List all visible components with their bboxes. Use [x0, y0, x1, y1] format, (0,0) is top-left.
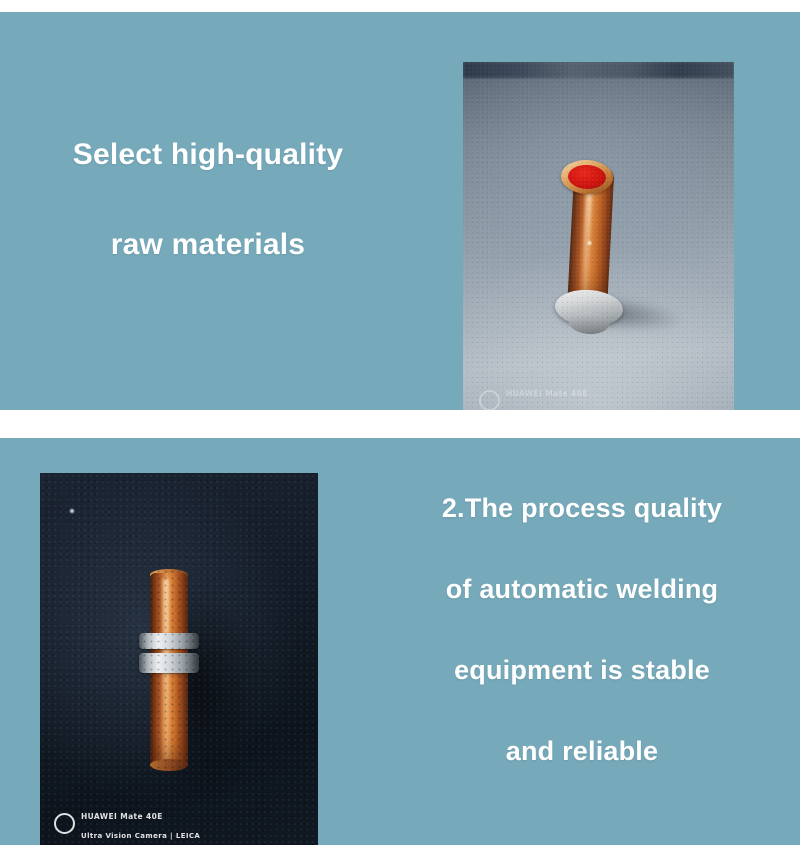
part-shadow [180, 581, 258, 793]
caption-line: 2.The process quality [392, 495, 772, 522]
camera-ring-icon [479, 390, 500, 410]
steel-ring-upper [139, 633, 199, 649]
watermark-model: HUAWEI Mate 40E [506, 389, 588, 398]
caption-raw-material: Select high-quality raw materials [18, 140, 398, 260]
copper-cylinder-bottom [150, 759, 188, 771]
panel-welding-equipment: HUAWEI Mate 40E Ultra Vision Camera | LE… [0, 438, 800, 845]
caption-line: of automatic welding [392, 576, 772, 603]
caption-line: equipment is stable [392, 657, 772, 684]
red-bore [567, 164, 606, 190]
caption-line: raw materials [18, 230, 398, 260]
caption-welding-equipment: 2.The process quality of automatic weldi… [392, 495, 772, 765]
watermark-subtitle: Ultra Vision Camera | LEICA [81, 832, 200, 840]
caption-line: and reliable [392, 738, 772, 765]
steel-ring-lower [139, 653, 199, 673]
watermark-model: HUAWEI Mate 40E [81, 812, 163, 821]
copper-tube-speck [587, 241, 591, 245]
camera-ring-icon [54, 813, 75, 834]
product-feature-page: Select high-quality raw materials HUAWEI… [0, 0, 800, 866]
panel-raw-material: Select high-quality raw materials HUAWEI… [0, 12, 800, 410]
light-speck [70, 509, 74, 513]
photo-raw-material: HUAWEI Mate 40E Ultra Vision Camera | LE… [463, 62, 734, 410]
photo-welding-part: HUAWEI Mate 40E Ultra Vision Camera | LE… [40, 473, 318, 845]
camera-watermark: HUAWEI Mate 40E Ultra Vision Camera | LE… [54, 804, 200, 843]
caption-line: Select high-quality [18, 140, 398, 170]
watermark-subtitle: Ultra Vision Camera | LEICA [506, 409, 625, 410]
photo-top-edge-band [463, 62, 734, 78]
camera-watermark: HUAWEI Mate 40E Ultra Vision Camera | LE… [479, 381, 625, 410]
